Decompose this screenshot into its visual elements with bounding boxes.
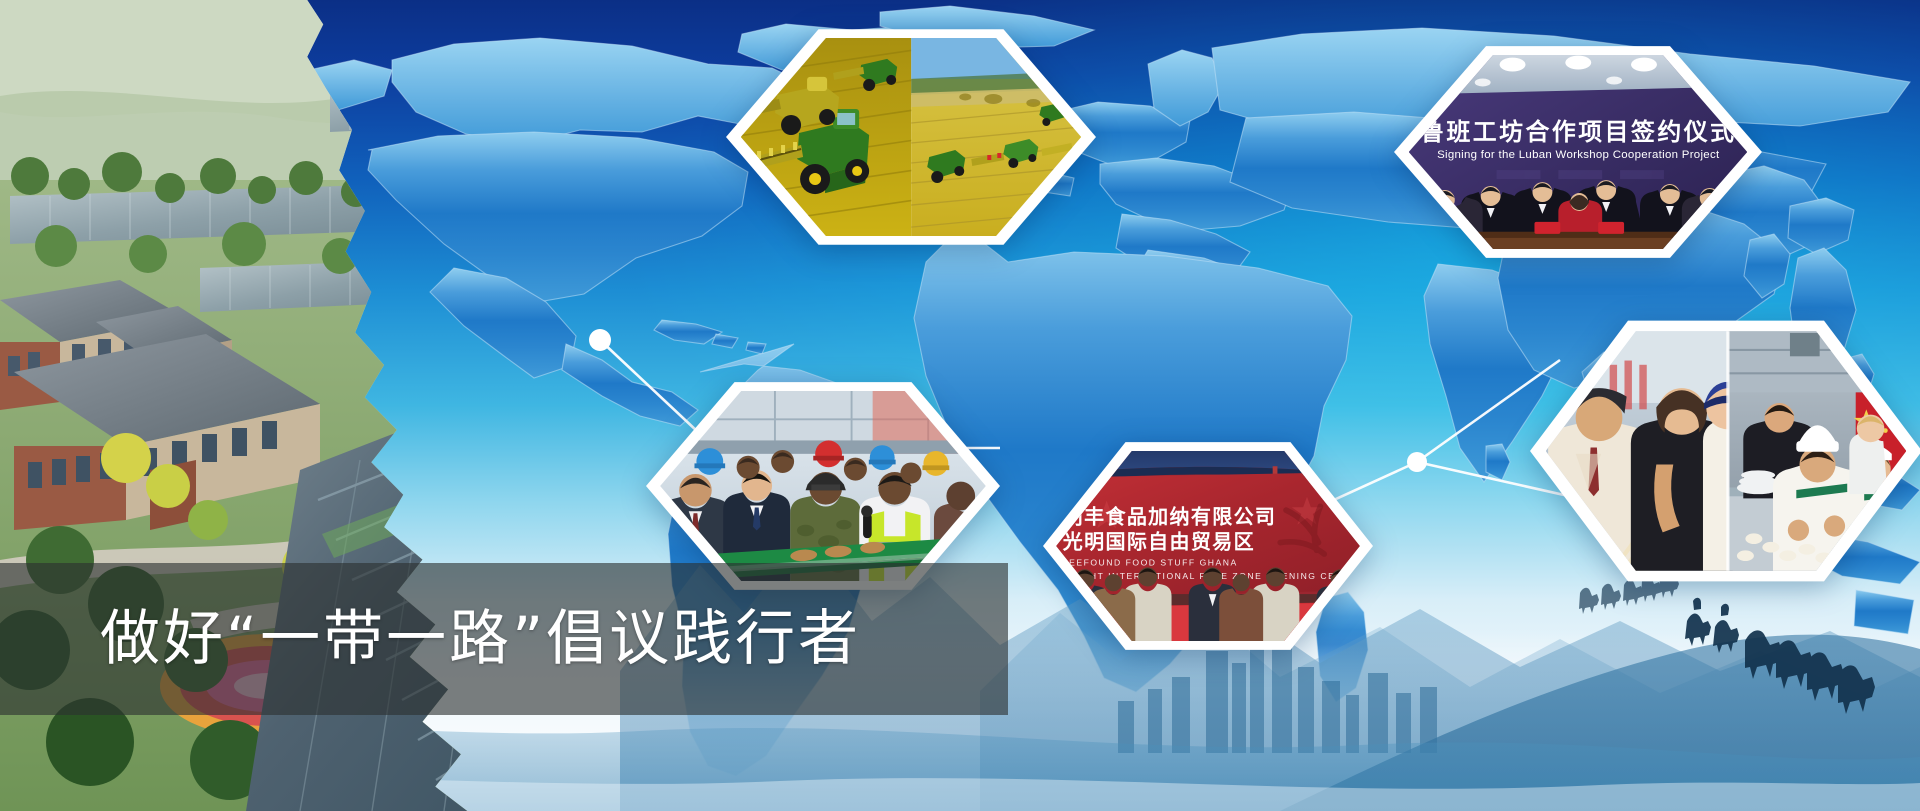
hexagon-image-luban-workshop: 鲁班工坊合作项目签约仪式 Signing for the Luban Works… <box>1409 55 1748 249</box>
hexagon-frame <box>1530 318 1920 584</box>
hexagon-frame: 利丰食品加纳有限公司 光明国际自由贸易区 LEEFOUND FOOD STUFF… <box>1043 440 1373 652</box>
hexagon-image-agriculture <box>741 38 1081 236</box>
hexagon-card-ghana-opening[interactable]: 利丰食品加纳有限公司 光明国际自由贸易区 LEEFOUND FOOD STUFF… <box>1043 440 1373 652</box>
luban-banner-title-cn: 鲁班工坊合作项目签约仪式 <box>1420 118 1736 146</box>
one-belt-one-road-banner: 鲁班工坊合作项目签约仪式 Signing for the Luban Works… <box>0 0 1920 811</box>
hexagon-card-luban-workshop[interactable]: 鲁班工坊合作项目签约仪式 Signing for the Luban Works… <box>1394 44 1762 260</box>
hexagon-image-culinary-exchange <box>1546 331 1907 570</box>
hexagon-frame: 鲁班工坊合作项目签约仪式 Signing for the Luban Works… <box>1394 44 1762 260</box>
ghana-banner-cn-line2: 光明国际自由贸易区 <box>1062 529 1255 553</box>
page-title: 做好“一带一路”倡议践行者 <box>0 609 861 669</box>
luban-banner-title-en: Signing for the Luban Workshop Cooperati… <box>1437 149 1720 161</box>
hexagon-image-ghana-opening: 利丰食品加纳有限公司 光明国际自由贸易区 LEEFOUND FOOD STUFF… <box>1056 451 1360 642</box>
hexagon-frame <box>646 380 1000 592</box>
hexagon-frame <box>726 27 1096 247</box>
headline-band: 做好“一带一路”倡议践行者 <box>0 563 1008 715</box>
hexagon-card-delegation-visit[interactable] <box>646 380 1000 592</box>
ghana-banner-cn-line1: 利丰食品加纳有限公司 <box>1063 504 1277 528</box>
hexagon-image-delegation-visit <box>660 391 986 582</box>
ghana-banner-en-line1: LEEFOUND FOOD STUFF GHANA <box>1063 557 1238 567</box>
hexagon-card-agriculture[interactable] <box>726 27 1096 247</box>
hexagon-card-culinary-exchange[interactable] <box>1530 318 1920 584</box>
